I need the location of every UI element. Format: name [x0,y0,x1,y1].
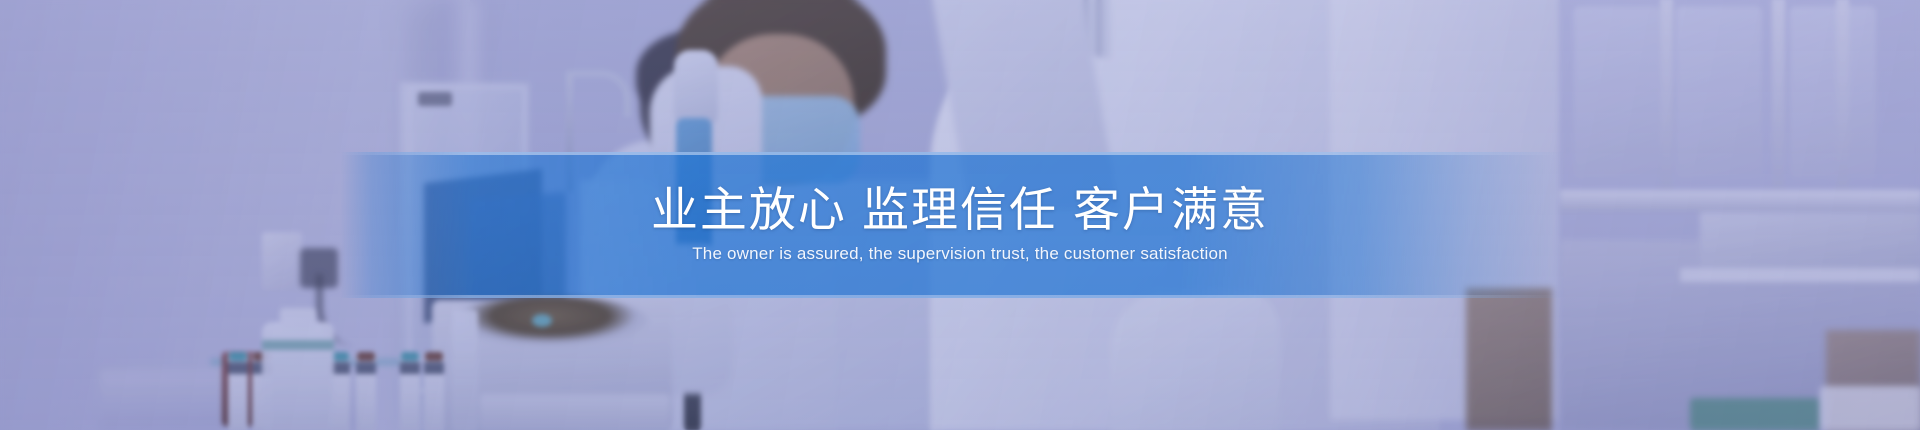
hero-banner: 业主放心 监理信任 客户满意 The owner is assured, the… [0,0,1920,430]
banner-headline: 业主放心 监理信任 客户满意 [651,186,1269,235]
banner-subline: The owner is assured, the supervision tr… [692,244,1228,264]
banner-text-block: 业主放心 监理信任 客户满意 The owner is assured, the… [0,152,1920,298]
